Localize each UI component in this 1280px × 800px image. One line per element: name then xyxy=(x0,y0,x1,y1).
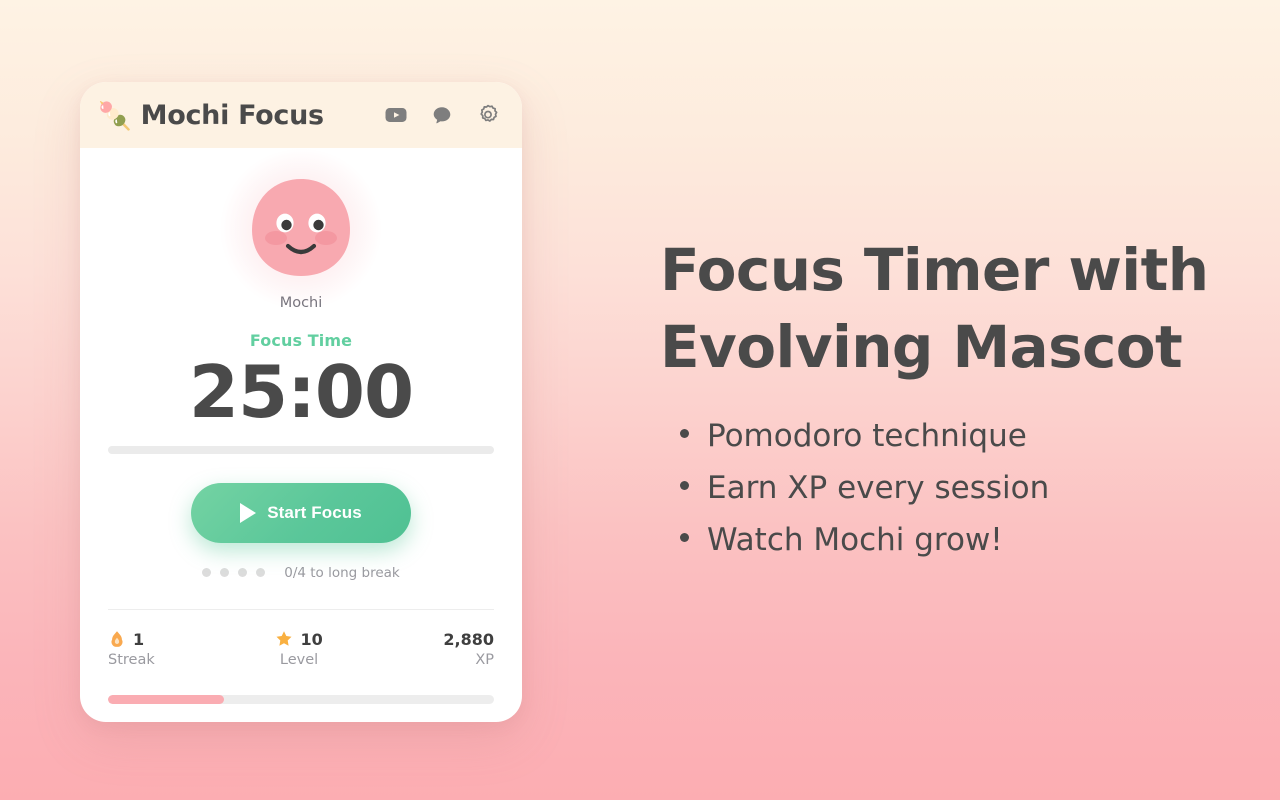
timer-section: Focus Time 25:00 xyxy=(108,331,494,432)
stat-streak: 1 Streak xyxy=(108,630,155,668)
bullet-icon xyxy=(680,533,689,542)
stat-xp-top: 2,880 xyxy=(443,630,494,649)
promo-list-item: Pomodoro technique xyxy=(660,410,1220,462)
xp-progress-fill xyxy=(108,695,224,704)
timer-display: 25:00 xyxy=(189,354,413,432)
youtube-icon[interactable] xyxy=(384,103,408,127)
session-progress-bar xyxy=(108,446,494,454)
stat-level: 10 Level xyxy=(275,630,322,668)
stat-streak-value: 1 xyxy=(133,630,144,649)
stat-streak-label: Streak xyxy=(108,652,155,668)
gear-icon[interactable] xyxy=(476,103,500,127)
promo-title: Focus Timer with Evolving Mascot xyxy=(660,232,1220,386)
app-header: 🍡 Mochi Focus xyxy=(80,82,522,148)
promo-feature-list: Pomodoro technique Earn XP every session… xyxy=(660,410,1220,566)
session-dot xyxy=(238,568,247,577)
promo-list-item-label: Earn XP every session xyxy=(707,462,1049,514)
start-focus-button[interactable]: Start Focus xyxy=(191,483,411,543)
stat-xp: 2,880 XP xyxy=(443,630,494,668)
timer-phase-label: Focus Time xyxy=(250,331,352,350)
app-body: Mochi Focus Time 25:00 Start Focus xyxy=(80,148,522,722)
session-dots-row: 0/4 to long break xyxy=(108,565,494,581)
stat-streak-top: 1 xyxy=(108,630,155,649)
mochi-focus-app-card: 🍡 Mochi Focus xyxy=(80,82,522,722)
page-root: 🍡 Mochi Focus xyxy=(0,0,1280,800)
mascot-blob-icon xyxy=(245,176,357,282)
star-icon xyxy=(275,630,293,648)
mascot-section: Mochi xyxy=(108,176,494,311)
bullet-icon xyxy=(680,429,689,438)
session-dot xyxy=(220,568,229,577)
header-icon-group xyxy=(384,103,500,127)
promo-list-item: Watch Mochi grow! xyxy=(660,514,1220,566)
stats-divider xyxy=(108,609,494,610)
bullet-icon xyxy=(680,481,689,490)
play-icon xyxy=(240,503,256,523)
brand: 🍡 Mochi Focus xyxy=(98,100,384,131)
mascot-avatar[interactable] xyxy=(245,176,357,282)
promo-list-item-label: Watch Mochi grow! xyxy=(707,514,1003,566)
session-dot xyxy=(202,568,211,577)
chat-bubble-icon[interactable] xyxy=(430,103,454,127)
promo-list-item: Earn XP every session xyxy=(660,462,1220,514)
stats-row: 1 Streak 10 Level 2,880 xyxy=(108,630,494,668)
promo-list-item-label: Pomodoro technique xyxy=(707,410,1027,462)
promo-panel: Focus Timer with Evolving Mascot Pomodor… xyxy=(660,232,1220,566)
start-focus-label: Start Focus xyxy=(267,503,362,523)
stat-xp-label: XP xyxy=(475,652,494,668)
stat-level-label: Level xyxy=(280,652,318,668)
long-break-label: 0/4 to long break xyxy=(284,565,400,581)
app-title: Mochi Focus xyxy=(141,100,324,131)
stat-level-top: 10 xyxy=(275,630,322,649)
session-dot xyxy=(256,568,265,577)
primary-action-row: Start Focus xyxy=(108,483,494,543)
stat-xp-value: 2,880 xyxy=(443,630,494,649)
dango-emoji: 🍡 xyxy=(98,103,132,130)
stat-level-value: 10 xyxy=(300,630,322,649)
xp-progress-bar xyxy=(108,695,494,704)
flame-icon xyxy=(108,630,126,648)
